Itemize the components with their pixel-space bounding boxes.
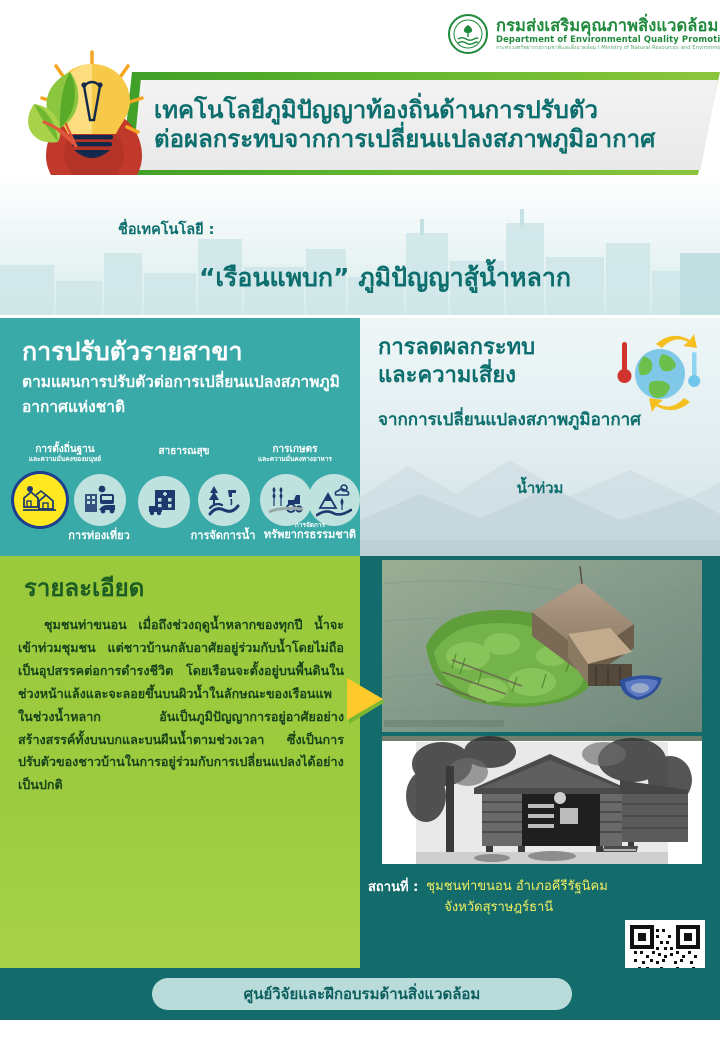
sector-icon-agriculture[interactable]: [260, 474, 312, 526]
floating-raft-house-photo: [382, 560, 702, 732]
deqp-logo-text: กรมส่งเสริมคุณภาพสิ่งแวดล้อม Department …: [496, 17, 720, 51]
poster-header: กรมส่งเสริมคุณภาพสิ่งแวดล้อม Department …: [0, 0, 720, 200]
poster-title-line1: เทคโนโลยีภูมิปัญญาท้องถิ่นด้านการปรับตัว: [154, 96, 718, 125]
org-name-th: กรมส่งเสริมคุณภาพสิ่งแวดล้อม: [496, 17, 720, 34]
sector-icon-natural-resources[interactable]: [308, 474, 360, 526]
globe-thermometer-recycle-icon: [590, 328, 706, 420]
footer-organization-pill: ศูนย์วิจัยและฝึกอบรมด้านสิ่งแวดล้อม: [152, 978, 572, 1010]
org-ministry: กระทรวงทรัพยากรธรรมชาติและสิ่งแวดล้อม I …: [496, 46, 720, 52]
river-faucet-icon: [206, 482, 242, 518]
deqp-logo: กรมส่งเสริมคุณภาพสิ่งแวดล้อม Department …: [448, 14, 720, 54]
org-name-en: Department of Environmental Quality Prom…: [496, 35, 720, 44]
title-banner: เทคโนโลยีภูมิปัญญาท้องถิ่นด้านการปรับตัว…: [120, 72, 720, 184]
right-column: สถานที่ : ชุมชนท่าขนอน อำเภอคีรีรัฐนิคม …: [360, 556, 720, 968]
sector-icon-public-health[interactable]: [138, 476, 190, 528]
mitigation-heading-line2: และความเสี่ยง: [378, 363, 516, 388]
village-houses-icon: [22, 482, 58, 518]
historic-stilt-house-photo: [382, 736, 702, 864]
details-heading: รายละเอียด: [24, 568, 144, 607]
deqp-tree-water-logo-icon: [448, 14, 488, 54]
mitigation-panel: การลดผลกระทบ และความเสี่ยง จากการเปลี่ยน…: [360, 318, 720, 556]
sector-label-settlement: การตั้งถิ่นฐาน และความมั่นคงของมนุษย์: [10, 444, 120, 463]
location-label: สถานที่ :: [368, 876, 418, 897]
location-row: สถานที่ : ชุมชนท่าขนอน อำเภอคีรีรัฐนิคม …: [368, 876, 720, 919]
sector-label-agriculture: การเกษตร และความมั่นคงทางอาหาร: [240, 444, 350, 463]
location-line1: ชุมชนท่าขนอน อำเภอคีรีรัฐนิคม: [426, 876, 608, 897]
sector-icon-row: การตั้งถิ่นฐาน และความมั่นคงของมนุษย์ สา…: [8, 444, 360, 552]
poster-title-line2: ต่อผลกระทบจากการเปลี่ยนแปลงสภาพภูมิอากาศ: [154, 125, 718, 154]
details-panel: รายละเอียด ชุมชนท่าขนอน เมื่อถึงช่วงฤดูน…: [0, 556, 360, 968]
location-line2: จังหวัดสุราษฎร์ธานี: [426, 897, 608, 918]
sector-label-tourism: การท่องเที่ยว: [44, 530, 154, 542]
sector-label-natural-resources: การจัดการ ทรัพยากรธรรมชาติ: [258, 522, 362, 541]
crops-tractor-icon: [268, 482, 304, 518]
mitigation-heading-line1: การลดผลกระทบ: [378, 335, 535, 360]
adaptation-heading: การปรับตัวรายสาขา: [22, 332, 243, 372]
sector-icon-settlement[interactable]: [14, 474, 66, 526]
adaptation-panel: การปรับตัวรายสาขา ตามแผนการปรับตัวต่อการ…: [0, 318, 360, 556]
footer-organization-label: ศูนย์วิจัยและฝึกอบรมด้านสิ่งแวดล้อม: [244, 982, 481, 1006]
sector-icon-tourism[interactable]: [74, 474, 126, 526]
details-body-text: ชุมชนท่าขนอน เมื่อถึงช่วงฤดูน้ำหลากของทุ…: [18, 614, 344, 797]
poster-root: กรมส่งเสริมคุณภาพสิ่งแวดล้อม Department …: [0, 0, 720, 1040]
mountain-forest-icon: [316, 482, 352, 518]
sector-label-public-health: สาธารณสุข: [140, 446, 228, 458]
technology-name-label: ชื่อเทคโนโลยี :: [118, 218, 214, 241]
risk-type-label: น้ำท่วม: [360, 476, 720, 500]
adaptation-subheading: ตามแผนการปรับตัวต่อการเปลี่ยนแปลงสภาพภูม…: [22, 370, 352, 420]
title-banner-inner: เทคโนโลยีภูมิปัญญาท้องถิ่นด้านการปรับตัว…: [132, 80, 718, 170]
sector-icon-water[interactable]: [198, 474, 250, 526]
mitigation-heading: การลดผลกระทบ และความเสี่ยง: [378, 334, 598, 390]
poster-footer: ศูนย์วิจัยและฝึกอบรมด้านสิ่งแวดล้อม: [0, 968, 720, 1020]
technology-name-value: “เรือนแพบก” ภูมิปัญญาสู้น้ำหลาก: [150, 258, 620, 298]
play-arrow-right-icon: [345, 672, 387, 732]
city-bus-car-icon: [82, 482, 118, 518]
hospital-ambulance-icon: [146, 484, 182, 520]
